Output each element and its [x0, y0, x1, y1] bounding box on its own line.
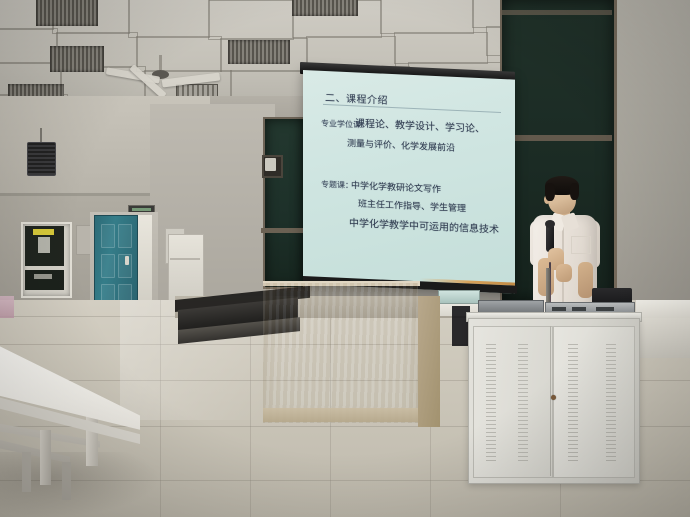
door-handle[interactable]	[125, 256, 129, 265]
slide-block1-line2: 测量与评价、化学发展前沿	[347, 136, 455, 154]
pink-object	[0, 296, 14, 318]
slide-block2-line2: 班主任工作指导、学生管理	[358, 196, 466, 214]
presenter-forearm-right	[578, 262, 593, 298]
monitor-screen	[438, 290, 480, 304]
cabinet-door-right[interactable]	[553, 326, 635, 478]
yellow-notice-sign	[33, 229, 54, 235]
chalkboard-rail-top	[500, 10, 612, 15]
appliance-seam	[170, 258, 200, 260]
chalkboard-rail-left	[261, 228, 303, 233]
bench-leg-2	[62, 462, 71, 500]
podium-side-panel	[418, 296, 440, 427]
wooden-podium	[263, 283, 418, 423]
right-counter-front	[640, 318, 690, 358]
slide-block2-line1: 中学化学教研论文写作	[351, 178, 441, 195]
light-panel-icon	[50, 46, 104, 72]
light-panel-icon	[228, 40, 290, 64]
microphone-head	[545, 220, 555, 228]
wall-speaker-icon	[27, 142, 56, 176]
light-panel-icon	[292, 0, 358, 16]
presenter-hair-side-left	[545, 183, 555, 201]
slide-block2-lead: 专题课：	[321, 179, 353, 191]
presenter-hair-side-right	[570, 183, 579, 200]
notice-label	[34, 274, 52, 279]
slide-title-underline	[323, 104, 501, 113]
clock-face	[265, 158, 276, 171]
cabinet-door-left[interactable]	[473, 326, 553, 478]
classroom-photo: 二、课程介绍 专业学位课： 课程论、教学设计、学习论、 测量与评价、化学发展前沿…	[0, 0, 690, 517]
slide-block1-line1: 课程论、教学设计、学习论、	[355, 114, 485, 135]
presenter-hand-lower	[556, 264, 572, 282]
notice-window-lower	[25, 270, 64, 290]
chalkboard-rail	[500, 135, 612, 141]
cabinet-door-seam	[550, 326, 551, 476]
cabinet-lock-icon[interactable]	[551, 395, 556, 400]
table-leg-2	[40, 430, 51, 485]
podium-base	[263, 408, 420, 422]
projection-screen: 二、课程介绍 专业学位课： 课程论、教学设计、学习论、 测量与评价、化学发展前沿…	[303, 70, 515, 294]
white-notice-paper	[38, 237, 50, 253]
shirt-pocket	[571, 236, 591, 254]
light-panel-icon	[36, 0, 98, 26]
right-wall	[612, 0, 690, 330]
slide-block2-line3: 中学化学教学中可运用的信息技术	[349, 214, 499, 236]
bench-leg	[22, 452, 31, 492]
chalkboard-left	[263, 117, 305, 289]
